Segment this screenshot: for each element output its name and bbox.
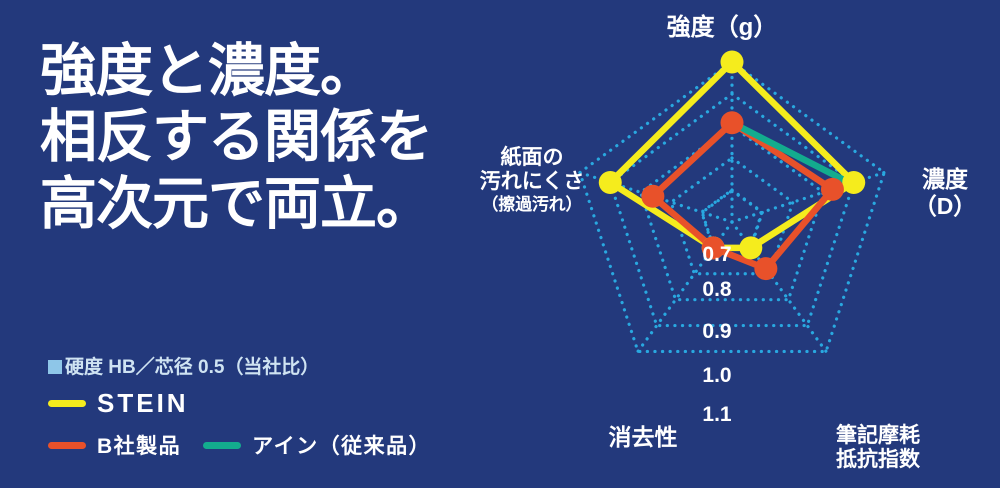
axis-label-strength: 強度（g）	[632, 14, 812, 42]
radar-chart: 強度（g） 濃度（D） 筆記摩耗抵抗指数 消去性 紙面の汚れにくさ（擦過汚れ） …	[460, 0, 1000, 488]
axis-label-line: （擦過汚れ）	[458, 195, 606, 214]
square-marker-icon	[48, 360, 62, 374]
axis-label-line: 抵抗指数	[798, 448, 958, 472]
data-point-0-0	[721, 51, 744, 74]
axis-label-line: 強度（g）	[632, 14, 812, 42]
chart-legend: STEIN B社製品 アイン（従来品）	[48, 388, 468, 471]
legend-row-1: STEIN	[48, 388, 468, 419]
tick-label-2: 0.9	[686, 320, 748, 344]
headline-line-1: 強度と濃度。	[40, 38, 460, 104]
data-point-1-0	[721, 111, 744, 134]
axis-label-line: 紙面の	[458, 146, 606, 170]
data-point-0-1	[842, 171, 865, 194]
yellow-line-swatch-icon	[48, 400, 86, 407]
radar-spokes	[580, 62, 884, 351]
data-point-1-4	[641, 185, 664, 208]
axis-label-line: 筆記摩耗	[798, 424, 958, 448]
axis-label-line: 消去性	[568, 424, 718, 451]
page-title: 強度と濃度。 相反する関係を 高次元で両立。	[40, 38, 460, 237]
tick-label-3: 1.0	[686, 364, 748, 388]
legend-item-ain: アイン（従来品）	[203, 430, 431, 460]
axis-label-density: 濃度（D）	[890, 166, 1000, 219]
axis-label-line: （D）	[890, 193, 1000, 220]
headline-line-2: 相反する関係を	[40, 104, 460, 170]
data-point-1-1	[821, 178, 844, 201]
orange-line-swatch-icon	[48, 442, 86, 449]
series-line-2-seg-0	[732, 123, 851, 184]
legend-label-ain: アイン（従来品）	[252, 430, 431, 460]
legend-row-2: B社製品 アイン（従来品）	[48, 430, 468, 460]
legend-item-stein: STEIN	[48, 388, 189, 419]
axis-label-wear-index: 筆記摩耗抵抗指数	[798, 424, 958, 473]
legend-label-stein: STEIN	[97, 388, 189, 419]
axis-label-line: 濃度	[890, 166, 1000, 193]
axis-label-smudge: 紙面の汚れにくさ（擦過汚れ）	[458, 146, 606, 214]
infographic-root: 強度と濃度。 相反する関係を 高次元で両立。 硬度 HB／芯径 0.5（当社比）…	[0, 0, 1000, 488]
tick-label-0: 0.7	[686, 243, 748, 267]
axis-label-erasability: 消去性	[568, 424, 718, 451]
axis-label-line: 汚れにくさ	[458, 170, 606, 194]
legend-item-b-company: B社製品	[48, 430, 181, 460]
tick-label-1: 0.8	[686, 278, 748, 302]
teal-line-swatch-icon	[203, 442, 241, 449]
data-point-1-2	[754, 257, 777, 280]
tick-label-4: 1.1	[686, 403, 748, 427]
conditions-note: 硬度 HB／芯径 0.5（当社比）	[48, 352, 319, 379]
headline-line-3: 高次元で両立。	[40, 171, 460, 237]
legend-label-b-company: B社製品	[97, 430, 181, 460]
conditions-note-text: 硬度 HB／芯径 0.5（当社比）	[65, 352, 319, 379]
